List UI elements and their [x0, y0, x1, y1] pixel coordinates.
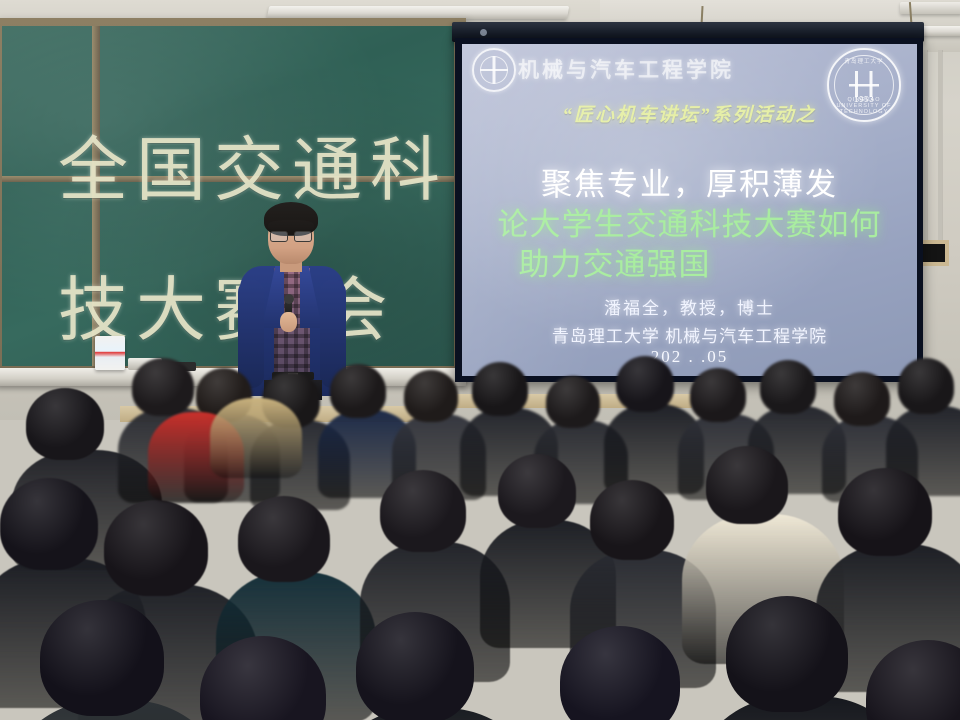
slide-title-line-2: 论大学生交通科技大赛如何 — [462, 199, 917, 244]
audience-head — [546, 376, 600, 428]
audience-head — [40, 600, 164, 716]
audience-head — [380, 470, 466, 552]
slide-affiliation: 青岛理工大学 机械与汽车工程学院 — [462, 322, 917, 347]
audience-head — [132, 358, 194, 416]
audience-head — [898, 358, 954, 414]
audience-head — [760, 360, 816, 414]
audience-head — [238, 496, 330, 582]
audience-head — [590, 480, 674, 560]
eyeglasses-icon — [270, 231, 312, 240]
slide-series-label: “匠心机车讲坛”系列活动之 — [462, 100, 917, 127]
seal-arc-top: 青岛理工大学 — [829, 57, 899, 65]
presenter-hand — [280, 312, 297, 332]
wall-conduit-pipe — [938, 50, 942, 240]
audience-head — [498, 454, 576, 528]
college-emblem-icon — [472, 48, 516, 92]
roller-knob-icon — [480, 29, 487, 36]
blackboard: 全国交通科 技大赛 会 — [0, 18, 466, 378]
audience-head — [330, 364, 386, 418]
slide-title-line-3: 助力交通强国 — [462, 239, 917, 284]
slide-presenter-name: 潘福全，教授，博士 — [462, 294, 917, 319]
student-audience — [0, 350, 960, 720]
audience-head — [726, 596, 848, 712]
slide-title-line-1: 聚焦专业，厚积薄发 — [462, 159, 917, 204]
tan-puffer-jacket — [210, 398, 302, 478]
wall-mounted-junction-box — [919, 240, 949, 266]
audience-head — [838, 468, 932, 556]
audience-head — [706, 446, 788, 524]
audience-head — [690, 368, 746, 422]
audience-head — [26, 388, 104, 460]
wall-conduit-pipe — [923, 50, 927, 240]
lecture-hall-screenshot: 全国交通科 技大赛 会 机械与汽车工程学院 青岛理工大学 1953 QINGDA… — [0, 0, 960, 720]
projection-slide: 机械与汽车工程学院 青岛理工大学 1953 QINGDAO UNIVERSITY… — [462, 44, 917, 376]
audience-head — [472, 362, 528, 416]
slide-header-text: 机械与汽车工程学院 — [518, 54, 734, 84]
audience-head — [104, 500, 208, 596]
audience-head — [834, 372, 890, 426]
audience-head — [616, 356, 674, 412]
audience-head — [0, 478, 98, 570]
audience-head — [356, 612, 474, 720]
audience-head — [404, 370, 458, 422]
